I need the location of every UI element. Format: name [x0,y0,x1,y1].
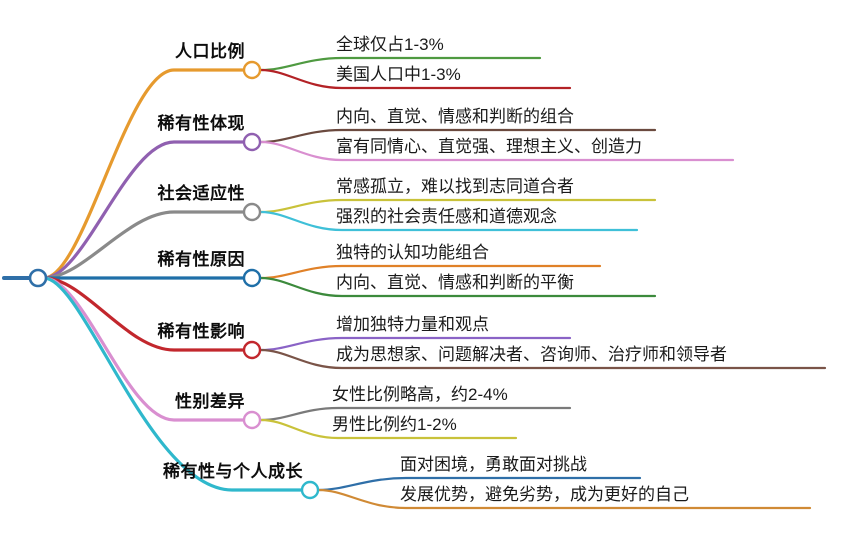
leaf-label[interactable]: 发展优势，避免劣势，成为更好的自己 [400,480,689,505]
topic-label[interactable]: 人口比例 [175,37,245,62]
topic-node-3 [244,204,260,220]
topic-node-7 [302,482,318,498]
topic-label[interactable]: 社会适应性 [158,179,246,204]
leaf-label[interactable]: 成为思想家、问题解决者、咨询师、治疗师和领导者 [336,340,727,365]
root-node [30,270,46,286]
leaf-label[interactable]: 强烈的社会责任感和道德观念 [336,202,557,227]
leaf-label[interactable]: 全球仅占1-3% [336,30,444,55]
topic-label[interactable]: 稀有性影响 [158,317,246,342]
leaf-label[interactable]: 富有同情心、直觉强、理想主义、创造力 [336,132,642,157]
leaf-label[interactable]: 常感孤立，难以找到志同道合者 [336,172,574,197]
leaf-label[interactable]: 美国人口中1-3% [336,60,461,85]
topic-node-2 [244,134,260,150]
leaf-label[interactable]: 男性比例约1-2% [332,410,457,435]
topic-node-5 [244,342,260,358]
topic-label[interactable]: 性别差异 [175,387,245,412]
leaf-label[interactable]: 独特的认知功能组合 [336,238,489,263]
leaf-label[interactable]: 内向、直觉、情感和判断的平衡 [336,268,574,293]
topic-label[interactable]: 稀有性体现 [158,109,246,134]
leaf-label[interactable]: 女性比例略高，约2-4% [332,380,508,405]
mindmap-canvas: 人口比例全球仅占1-3%美国人口中1-3%稀有性体现内向、直觉、情感和判断的组合… [0,0,844,540]
leaf-label[interactable]: 面对困境，勇敢面对挑战 [400,450,587,475]
topic-label[interactable]: 稀有性原因 [158,245,246,270]
topic-node-4 [244,270,260,286]
topic-label[interactable]: 稀有性与个人成长 [163,457,303,482]
leaf-label[interactable]: 内向、直觉、情感和判断的组合 [336,102,574,127]
topic-node-6 [244,412,260,428]
leaf-label[interactable]: 增加独特力量和观点 [336,310,489,335]
topic-node-1 [244,62,260,78]
